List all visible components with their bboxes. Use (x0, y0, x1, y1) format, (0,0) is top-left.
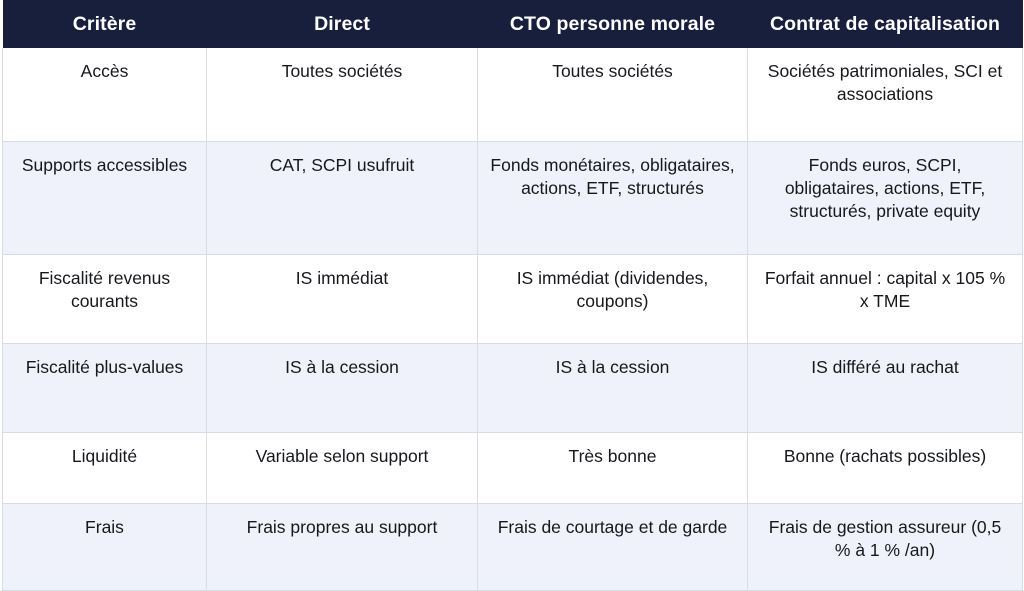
table-header: Critère Direct CTO personne morale Contr… (3, 0, 1023, 48)
cell-cto: IS immédiat (dividendes, coupons) (478, 255, 748, 344)
cell-cto: Frais de courtage et de garde (478, 504, 748, 591)
cell-cto: IS à la cession (478, 344, 748, 433)
column-header-contrat: Contrat de capitalisation (748, 0, 1023, 48)
cell-contrat: Fonds euros, SCPI, obligataires, actions… (748, 142, 1023, 255)
comparison-table: Critère Direct CTO personne morale Contr… (2, 0, 1023, 591)
table-row: Supports accessibles CAT, SCPI usufruit … (3, 142, 1023, 255)
cell-cto: Très bonne (478, 433, 748, 504)
table-row: Fiscalité revenus courants IS immédiat I… (3, 255, 1023, 344)
cell-cto: Toutes sociétés (478, 48, 748, 142)
column-header-direct: Direct (207, 0, 478, 48)
cell-criteria: Frais (3, 504, 207, 591)
table-row: Accès Toutes sociétés Toutes sociétés So… (3, 48, 1023, 142)
cell-criteria: Fiscalité plus-values (3, 344, 207, 433)
table-row: Fiscalité plus-values IS à la cession IS… (3, 344, 1023, 433)
cell-contrat: Frais de gestion assureur (0,5 % à 1 % /… (748, 504, 1023, 591)
comparison-table-container: Critère Direct CTO personne morale Contr… (0, 0, 1024, 445)
table-row: Liquidité Variable selon support Très bo… (3, 433, 1023, 504)
cell-direct: Toutes sociétés (207, 48, 478, 142)
table-row: Frais Frais propres au support Frais de … (3, 504, 1023, 591)
cell-contrat: IS différé au rachat (748, 344, 1023, 433)
cell-contrat: Forfait annuel : capital x 105 % x TME (748, 255, 1023, 344)
cell-criteria: Accès (3, 48, 207, 142)
cell-contrat: Bonne (rachats possibles) (748, 433, 1023, 504)
cell-cto: Fonds monétaires, obligataires, actions,… (478, 142, 748, 255)
cell-direct: IS à la cession (207, 344, 478, 433)
cell-criteria: Supports accessibles (3, 142, 207, 255)
column-header-criteria: Critère (3, 0, 207, 48)
cell-criteria: Fiscalité revenus courants (3, 255, 207, 344)
column-header-cto: CTO personne morale (478, 0, 748, 48)
cell-direct: IS immédiat (207, 255, 478, 344)
cell-direct: Frais propres au support (207, 504, 478, 591)
cell-criteria: Liquidité (3, 433, 207, 504)
table-header-row: Critère Direct CTO personne morale Contr… (3, 0, 1023, 48)
cell-direct: Variable selon support (207, 433, 478, 504)
cell-direct: CAT, SCPI usufruit (207, 142, 478, 255)
table-body: Accès Toutes sociétés Toutes sociétés So… (3, 48, 1023, 591)
cell-contrat: Sociétés patrimoniales, SCI et associati… (748, 48, 1023, 142)
